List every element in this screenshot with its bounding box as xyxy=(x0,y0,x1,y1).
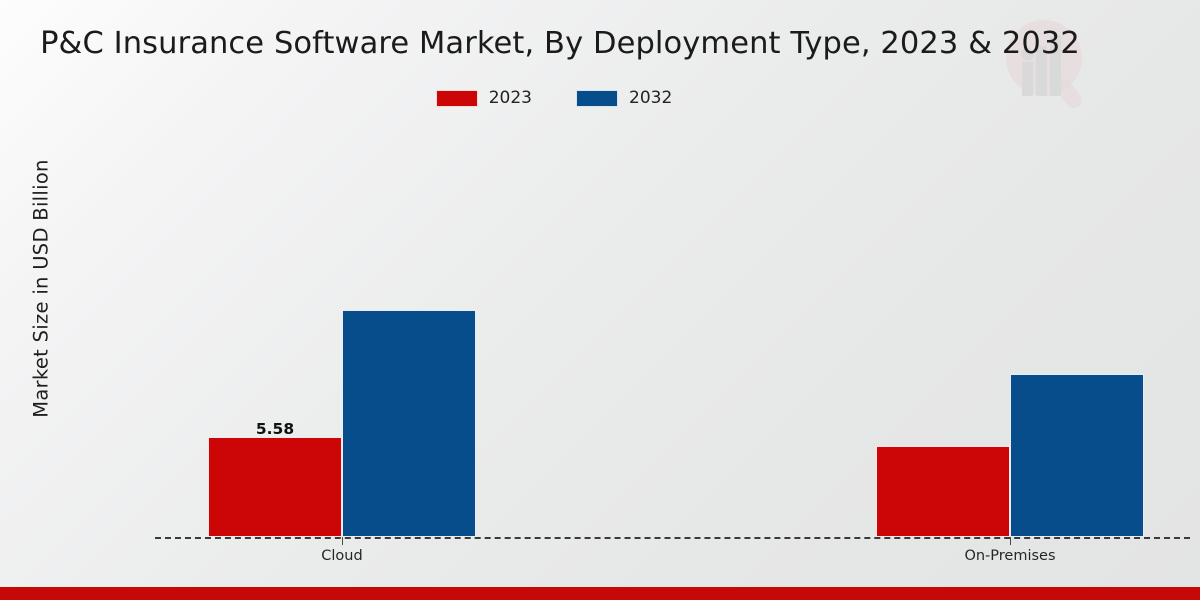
bar-value-label-cloud-2023: 5.58 xyxy=(215,420,335,438)
x-tick-label-cloud: Cloud xyxy=(262,548,422,564)
bar-on-premises-2032[interactable] xyxy=(1010,374,1144,537)
bar-on-premises-2023[interactable] xyxy=(876,446,1010,537)
footer-accent-bar xyxy=(0,587,1200,600)
bar-cloud-2032[interactable] xyxy=(342,310,476,537)
chart-figure: P&C Insurance Software Market, By Deploy… xyxy=(0,0,1200,600)
x-tick-on-premises xyxy=(1010,537,1011,545)
x-tick-label-on-premises: On-Premises xyxy=(930,548,1090,564)
x-axis-baseline xyxy=(155,537,1190,539)
bar-cloud-2023[interactable] xyxy=(208,437,342,537)
x-tick-cloud xyxy=(342,537,343,545)
plot-area: 5.58 Cloud On-Premises xyxy=(0,0,1200,600)
